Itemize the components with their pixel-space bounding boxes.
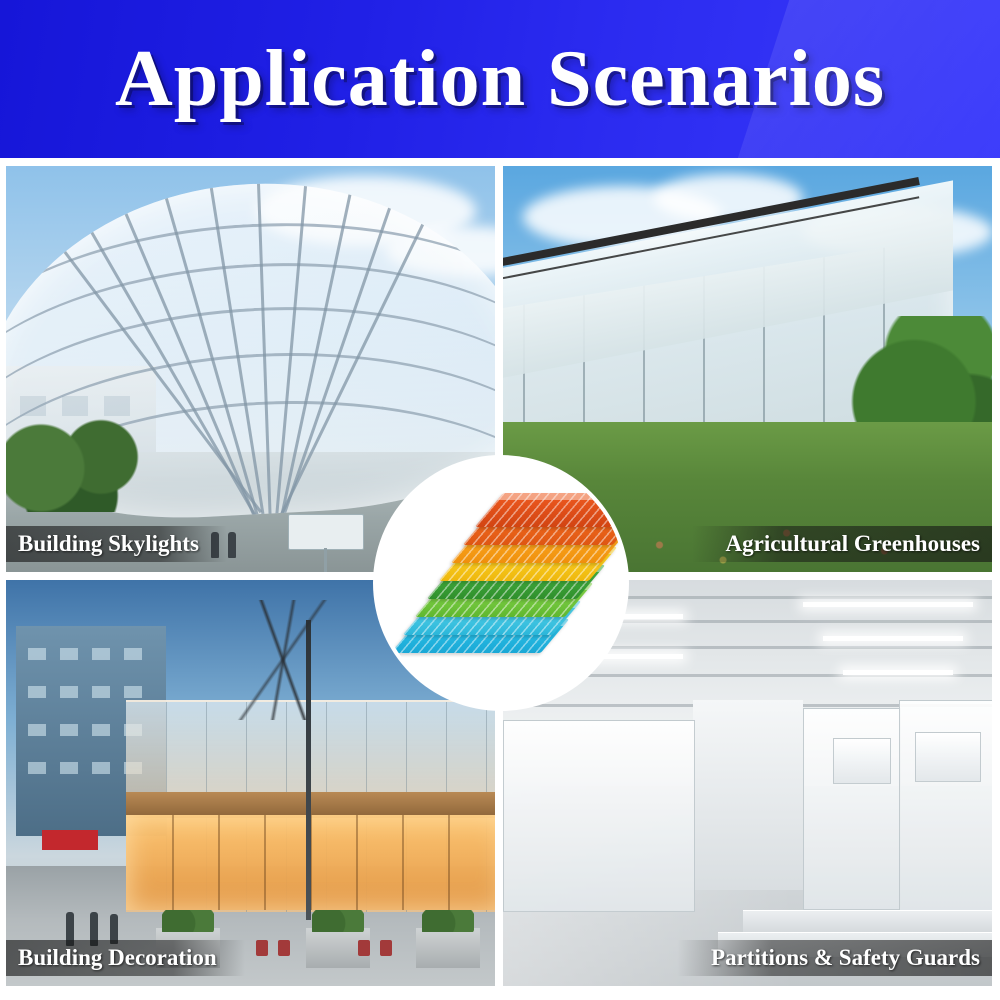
shrubbery	[6, 402, 146, 512]
strip-light	[843, 670, 953, 675]
shop-sign	[42, 830, 98, 850]
street-sign	[288, 514, 364, 550]
outdoor-chair	[380, 940, 392, 956]
poster-root: Application Scenarios	[0, 0, 1000, 1000]
strip-light	[823, 636, 963, 641]
corridor	[693, 700, 803, 890]
partition-window	[915, 732, 981, 782]
outdoor-chair	[278, 940, 290, 956]
sheet-red-orange	[475, 493, 625, 527]
caption-building-skylights: Building Skylights	[6, 526, 227, 562]
pedestrian	[228, 532, 236, 558]
strip-light	[593, 654, 683, 659]
strip-light	[803, 602, 973, 607]
page-title: Application Scenarios	[0, 39, 1000, 119]
floor-step	[743, 910, 992, 933]
header-banner: Application Scenarios	[0, 0, 1000, 158]
partition-window	[833, 738, 891, 784]
caption-building-decoration: Building Decoration	[6, 940, 245, 976]
product-badge[interactable]	[377, 459, 625, 707]
planter-box	[416, 928, 480, 968]
caption-agricultural-greenhouses: Agricultural Greenhouses	[692, 526, 992, 562]
partition-panel	[503, 720, 695, 912]
outdoor-chair	[256, 940, 268, 956]
bare-tree-branches	[156, 600, 416, 720]
outdoor-chair	[358, 940, 370, 956]
caption-partitions-safety-guards: Partitions & Safety Guards	[677, 940, 992, 976]
